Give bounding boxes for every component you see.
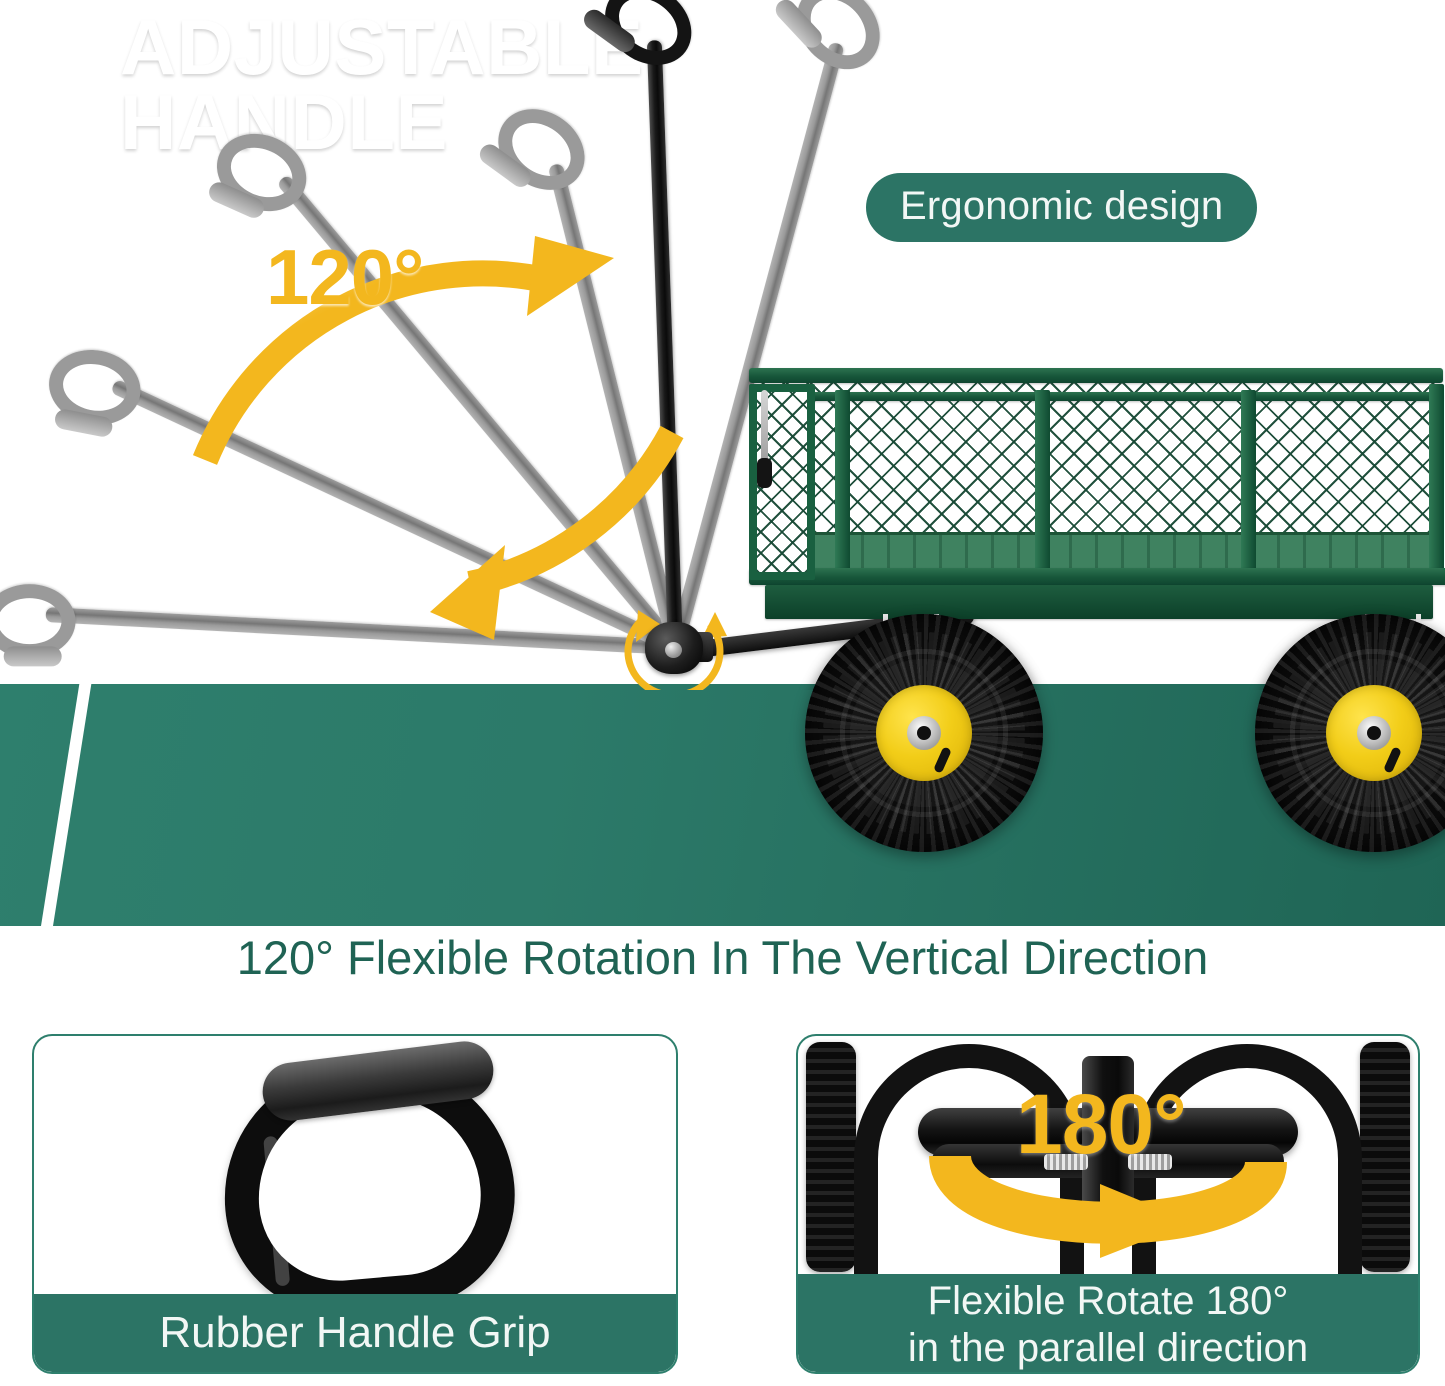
adjustable-handle-banner (0, 684, 1445, 926)
curved-double-arrow-icon (0, 0, 800, 690)
swivel-axle-illustration: 180° (798, 1036, 1418, 1274)
infographic-root: 120° Ergonomic design ADJUSTABLE HANDLE (0, 0, 1445, 1386)
top-rail (749, 368, 1443, 383)
rubber-grip-illustration (204, 1058, 564, 1298)
flexible-rotate-panel: 180° Flexible Rotate 180° in the paralle… (796, 1034, 1420, 1374)
cart-bed (743, 362, 1443, 597)
rubber-handle-grip-panel: Rubber Handle Grip (32, 1034, 678, 1374)
banner-subtitle: 120° Flexible Rotation In The Vertical D… (0, 934, 1445, 981)
garden-cart-image (735, 352, 1445, 690)
bottom-rail (749, 568, 1445, 585)
cart-skirt (765, 585, 1433, 619)
panel-caption-line1: Flexible Rotate 180° (798, 1278, 1418, 1325)
pivot-joint-icon (637, 612, 711, 684)
panel-caption: Flexible Rotate 180° in the parallel dir… (798, 1274, 1418, 1372)
mesh-panel (761, 380, 1435, 551)
front-wheel (1255, 614, 1445, 690)
banner-slash-divider (38, 670, 93, 942)
panel-caption: Rubber Handle Grip (34, 1294, 676, 1372)
ergonomic-design-badge: Ergonomic design (866, 173, 1257, 242)
angle-label-180: 180° (1016, 1082, 1186, 1166)
mesh-post (835, 390, 850, 576)
adjustable-handle-illustration: 120° Ergonomic design (0, 0, 1445, 690)
mesh-post (1035, 390, 1050, 576)
top-rail-inner (759, 392, 1443, 401)
angle-label-120: 120° (266, 238, 423, 316)
mesh-post (1241, 390, 1256, 576)
panel-caption-line2: in the parallel direction (798, 1325, 1418, 1372)
pivot-cap (665, 642, 682, 658)
mesh-post (1429, 384, 1444, 576)
